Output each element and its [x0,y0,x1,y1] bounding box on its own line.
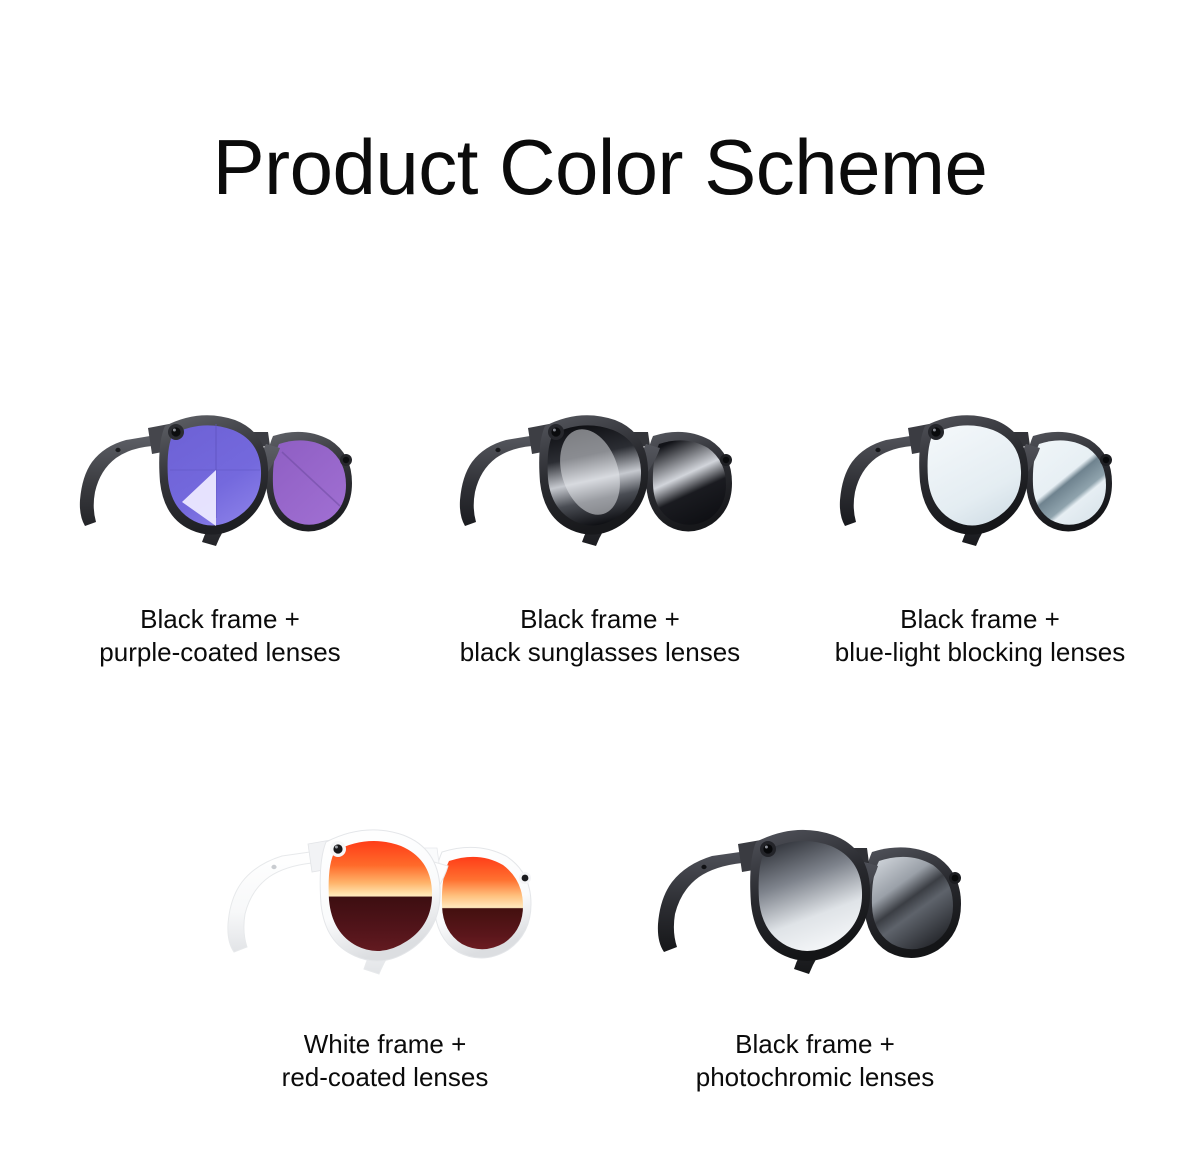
product-caption-purple-coated: Black frame + purple-coated lenses [99,603,340,670]
product-image-red-coated [170,752,600,1002]
sensor-dot-icon [115,448,120,452]
product-card-purple-coated[interactable]: Black frame + purple-coated lenses [30,340,410,670]
lens-left-group [320,830,440,961]
product-card-black-sunglasses[interactable]: Black frame + black sunglasses lenses [410,340,790,670]
lens-left-group [159,415,268,534]
sensor-dot-icon [875,448,880,452]
product-row-1: Black frame + purple-coated lenses [0,340,1200,670]
lens-right-group [266,432,352,532]
temple-arm-left [658,852,742,952]
lens-right-group [864,847,961,958]
sensor-dot-icon [701,865,706,869]
product-row-2: White frame + red-coated lenses [0,752,1200,1095]
lens-left-group [919,415,1028,534]
product-caption-blue-light-blocking: Black frame + blue-light blocking lenses [835,603,1126,670]
product-card-photochromic[interactable]: Black frame + photochromic lenses [600,752,1030,1095]
product-caption-red-coated: White frame + red-coated lenses [282,1028,489,1095]
product-caption-photochromic: Black frame + photochromic lenses [696,1028,934,1095]
sensor-dot-icon [271,865,276,869]
product-caption-black-sunglasses: Black frame + black sunglasses lenses [460,603,740,670]
product-color-scheme-page: Product Color Scheme [0,0,1200,1173]
lens-right-group [1026,432,1112,532]
lens-right-group [646,432,732,532]
product-image-photochromic [600,752,1030,1002]
temple-arm-left [228,852,312,952]
product-image-blue-light-blocking [790,340,1170,575]
product-card-blue-light-blocking[interactable]: Black frame + blue-light blocking lenses [790,340,1170,670]
product-image-purple-coated [30,340,410,575]
product-card-red-coated[interactable]: White frame + red-coated lenses [170,752,600,1095]
page-title: Product Color Scheme [0,128,1200,206]
lens-left-group [750,830,870,961]
product-image-black-sunglasses [410,340,790,575]
lens-right-group [434,847,531,958]
sensor-dot-icon [495,448,500,452]
lens-left-group [539,415,648,534]
